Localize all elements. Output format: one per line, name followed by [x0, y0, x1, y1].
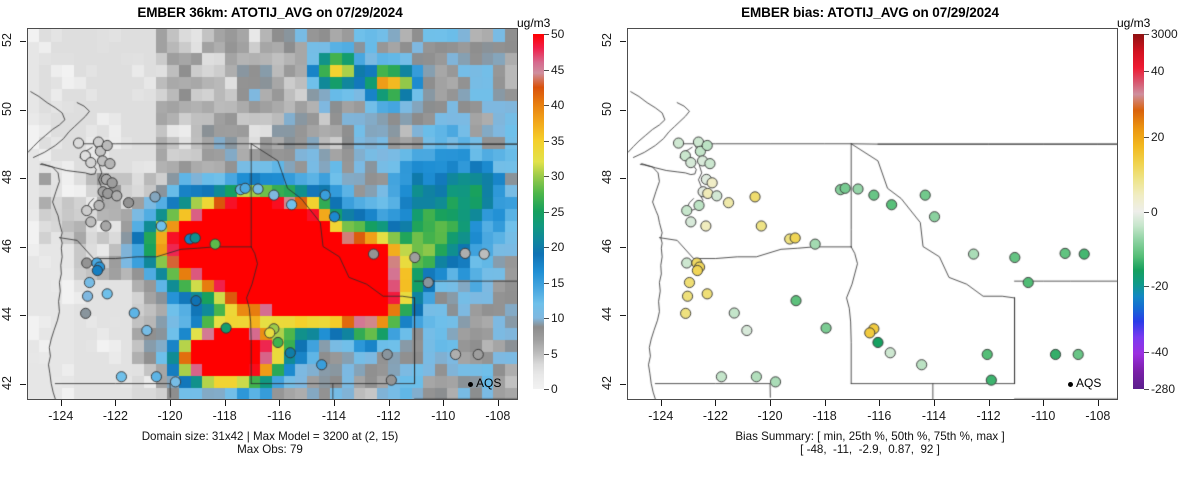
- colorbar-tick: [544, 283, 549, 284]
- colorbar-tick: [544, 176, 549, 177]
- colorbar-tick-label: 45: [551, 63, 564, 77]
- y-tick: [20, 178, 26, 179]
- colorbar-tick-label: 50: [551, 27, 564, 41]
- y-tick-label: 46: [600, 236, 614, 256]
- colorbar-tick-label: 5: [551, 347, 558, 361]
- y-tick-label: 50: [0, 99, 14, 119]
- colorbar-tick: [544, 247, 549, 248]
- colorbar-gradient: [1133, 34, 1144, 389]
- y-tick-label: 42: [600, 373, 614, 393]
- y-tick-label: 50: [600, 99, 614, 119]
- x-tick: [1098, 400, 1099, 406]
- colorbar-tick: [1144, 286, 1149, 287]
- colorbar-tick: [1144, 71, 1149, 72]
- x-tick-label: -110: [1025, 409, 1061, 423]
- y-tick-label: 46: [0, 236, 14, 256]
- x-tick: [389, 400, 390, 406]
- x-tick: [334, 400, 335, 406]
- x-tick: [279, 400, 280, 406]
- aqs-legend-dot: [1068, 382, 1073, 387]
- colorbar-tick-label: 35: [551, 134, 564, 148]
- colorbar-tick: [544, 34, 549, 35]
- y-tick-label: 48: [0, 167, 14, 187]
- colorbar-tick: [1144, 212, 1149, 213]
- y-tick: [620, 315, 626, 316]
- colorbar-tick-label: 20: [1151, 130, 1164, 144]
- y-tick: [620, 178, 626, 179]
- x-tick: [879, 400, 880, 406]
- x-tick: [715, 400, 716, 406]
- y-tick: [20, 41, 26, 42]
- y-tick-label: 48: [600, 167, 614, 187]
- y-tick-label: 52: [600, 30, 614, 50]
- y-tick-label: 44: [600, 304, 614, 324]
- y-tick: [20, 384, 26, 385]
- aqs-legend-dot: [468, 382, 473, 387]
- x-tick-label: -122: [97, 409, 133, 423]
- colorbar-tick: [544, 354, 549, 355]
- x-tick-label: -116: [261, 409, 297, 423]
- x-tick-label: -108: [1080, 409, 1116, 423]
- panel-bias-title: EMBER bias: ATOTIJ_AVG on 07/29/2024: [600, 5, 1140, 20]
- x-tick-label: -122: [697, 409, 733, 423]
- x-tick-label: -118: [807, 409, 843, 423]
- model-map-canvas: [28, 29, 517, 399]
- x-tick-label: -124: [43, 409, 79, 423]
- y-tick: [620, 110, 626, 111]
- x-tick-label: -118: [207, 409, 243, 423]
- y-tick-label: 52: [0, 30, 14, 50]
- x-tick-label: -112: [971, 409, 1007, 423]
- x-tick: [115, 400, 116, 406]
- x-tick: [1043, 400, 1044, 406]
- colorbar-tick-label: 3000: [1151, 27, 1178, 41]
- plot-area-bias[interactable]: [627, 28, 1118, 400]
- colorbar-tick: [1144, 34, 1149, 35]
- x-tick-label: -108: [480, 409, 516, 423]
- x-tick: [934, 400, 935, 406]
- colorbar-tick: [544, 212, 549, 213]
- aqs-legend-label: AQS: [476, 376, 501, 390]
- plot-area-model[interactable]: [27, 28, 518, 400]
- y-tick: [20, 315, 26, 316]
- x-tick-label: -116: [861, 409, 897, 423]
- x-tick-label: -120: [152, 409, 188, 423]
- x-tick: [443, 400, 444, 406]
- x-tick-label: -114: [916, 409, 952, 423]
- x-tick-label: -124: [643, 409, 679, 423]
- y-tick: [620, 247, 626, 248]
- x-tick: [170, 400, 171, 406]
- x-tick: [770, 400, 771, 406]
- colorbar-tick: [544, 141, 549, 142]
- colorbar-tick-label: -20: [1151, 279, 1168, 293]
- panel-model-title: EMBER 36km: ATOTIJ_AVG on 07/29/2024: [0, 5, 540, 20]
- x-tick: [498, 400, 499, 406]
- colorbar-tick: [544, 318, 549, 319]
- colorbar-tick: [544, 70, 549, 71]
- colorbar-tick: [544, 105, 549, 106]
- x-tick: [825, 400, 826, 406]
- figure-root: { "figure": { "width": 1200, "height": 4…: [0, 0, 1200, 479]
- caption-model: Domain size: 31x42 | Max Model = 3200 at…: [0, 430, 540, 456]
- colorbar-gradient: [533, 34, 544, 389]
- x-tick-label: -110: [425, 409, 461, 423]
- colorbar-tick: [1144, 352, 1149, 353]
- x-tick: [225, 400, 226, 406]
- aqs-legend-label: AQS: [1076, 376, 1101, 390]
- y-tick: [620, 384, 626, 385]
- colorbar-tick-label: -40: [1151, 345, 1168, 359]
- colorbar-tick: [1144, 137, 1149, 138]
- colorbar-tick: [544, 389, 549, 390]
- panel-model: EMBER 36km: ATOTIJ_AVG on 07/29/2024 -12…: [0, 0, 600, 479]
- x-tick-label: -114: [316, 409, 352, 423]
- x-tick-label: -120: [752, 409, 788, 423]
- colorbar-tick-label: 40: [1151, 64, 1164, 78]
- y-tick: [20, 110, 26, 111]
- colorbar-tick-label: 0: [1151, 205, 1158, 219]
- bias-map-canvas: [628, 29, 1117, 399]
- colorbar-tick: [1144, 389, 1149, 390]
- colorbar-tick-label: 0: [551, 382, 558, 396]
- colorbar-tick-label: 25: [551, 205, 564, 219]
- colorbar-title: ug/m3: [517, 16, 550, 30]
- y-tick: [20, 247, 26, 248]
- colorbar-tick-label: 20: [551, 240, 564, 254]
- panel-bias: EMBER bias: ATOTIJ_AVG on 07/29/2024 -12…: [600, 0, 1200, 479]
- caption-bias: Bias Summary: [ min, 25th %, 50th %, 75t…: [600, 430, 1140, 456]
- y-tick-label: 42: [0, 373, 14, 393]
- x-tick: [61, 400, 62, 406]
- y-tick-label: 44: [0, 304, 14, 324]
- colorbar-tick-label: 15: [551, 276, 564, 290]
- x-tick: [989, 400, 990, 406]
- colorbar-tick-label: 10: [551, 311, 564, 325]
- colorbar-tick-label: 30: [551, 169, 564, 183]
- colorbar-tick-label: 40: [551, 98, 564, 112]
- x-tick-label: -112: [371, 409, 407, 423]
- colorbar-tick-label: -280: [1151, 382, 1175, 396]
- y-tick: [620, 41, 626, 42]
- x-tick: [661, 400, 662, 406]
- colorbar-title: ug/m3: [1117, 16, 1150, 30]
